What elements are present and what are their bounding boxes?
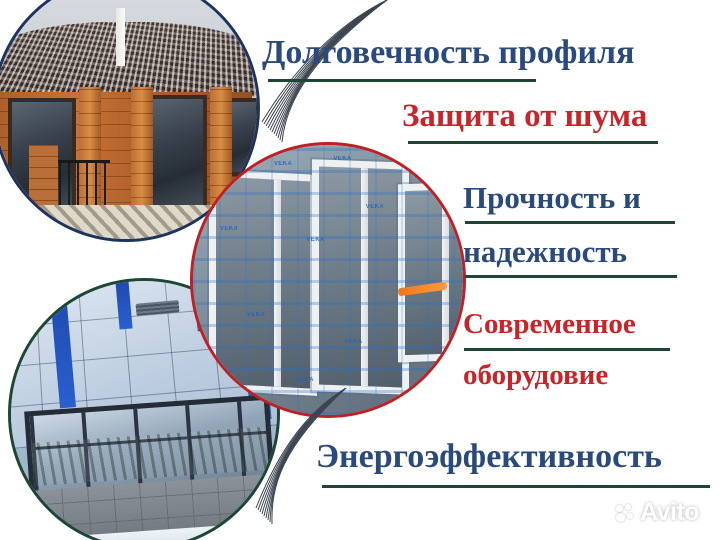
- avito-watermark: Avito: [616, 500, 699, 525]
- pvc-window-glass-3: [405, 189, 466, 356]
- pvc-window-mullion-1: [274, 180, 281, 388]
- headline-sovremennoe: Современное: [463, 310, 636, 339]
- headline-dolgovechnost-profilya: Долговечность профиля: [262, 36, 635, 70]
- headline-rule-energo: [322, 485, 710, 488]
- pvc-window-glass-1: [216, 177, 310, 389]
- avito-dots-logo: [616, 504, 636, 522]
- headline-rule-prochnost: [465, 221, 675, 224]
- veka-film-label: VEKA: [333, 156, 351, 162]
- headline-nadezhnost: надежность: [463, 236, 627, 267]
- house-roof-ridge: [116, 8, 125, 66]
- headline-rule-dolgovechnost: [268, 79, 536, 82]
- veka-film-label: VEKA: [231, 167, 249, 173]
- veka-film-label: VEKA: [344, 339, 362, 345]
- headline-rule-nadezhnost: [465, 275, 677, 278]
- pvc-window-frame-3: [398, 181, 466, 362]
- house-roof: [0, 22, 260, 97]
- veka-film-label: VEKA: [366, 204, 384, 210]
- poster-canvas: VEKA VEKA VEKA VEKA VEKA VEKA VEKA VEKA …: [0, 0, 720, 540]
- headline-energoeffektivnost: Энергоэффективность: [316, 440, 662, 474]
- pvc-window-mullion-2: [360, 168, 367, 386]
- pvc-window-mullion-3: [442, 189, 449, 353]
- veka-film-label: VEKA: [306, 237, 324, 243]
- pvc-window-frame-1: [209, 169, 317, 396]
- headline-prochnost-i: Прочность и: [463, 182, 641, 213]
- headline-rule-sovremennoe: [464, 348, 670, 351]
- photo-circle-pvc-windows: VEKA VEKA VEKA VEKA VEKA VEKA VEKA VEKA …: [190, 142, 466, 418]
- veka-film-label: VEKA: [220, 226, 238, 232]
- avito-watermark-text: Avito: [640, 500, 699, 525]
- headline-rule-zashchita: [408, 141, 658, 144]
- headline-oborudovie: оборудовие: [463, 361, 608, 390]
- veka-film-label: VEKA: [247, 312, 265, 318]
- pvc-window-frame-2: [312, 159, 409, 395]
- veka-film-label: VEKA: [274, 161, 292, 167]
- headline-zashchita-ot-shuma: Защита от шума: [402, 100, 647, 133]
- veka-film-label: VEKA: [296, 377, 314, 383]
